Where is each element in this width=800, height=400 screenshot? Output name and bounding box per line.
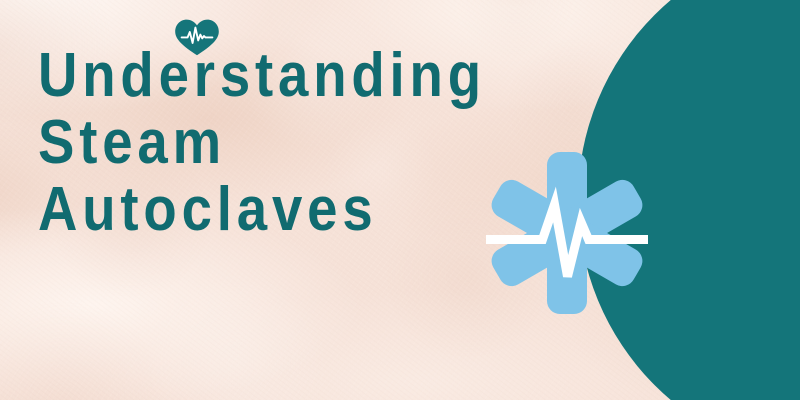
headline-line-2: Steam <box>38 109 478 176</box>
star-of-life-icon <box>484 150 650 316</box>
banner-graphic: Understanding Steam Autoclaves <box>0 0 800 400</box>
headline: Understanding Steam Autoclaves <box>38 42 538 243</box>
headline-line-1: Understanding <box>38 42 478 109</box>
headline-line-3: Autoclaves <box>38 176 478 243</box>
